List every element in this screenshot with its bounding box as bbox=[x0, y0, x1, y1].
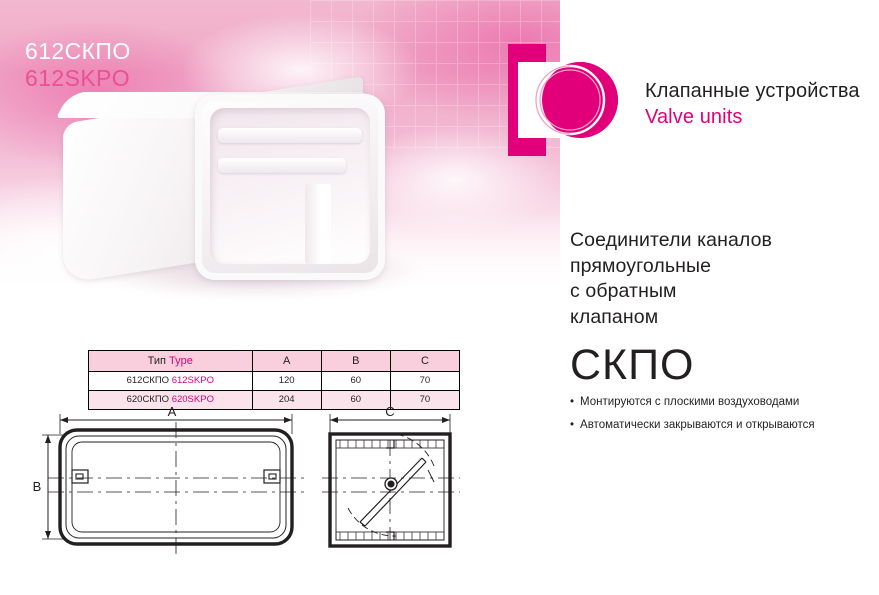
table-header-row: Тип Type A B C bbox=[89, 351, 460, 372]
header-type: Тип Type bbox=[89, 351, 253, 372]
table-row: 612СКПО 612SKPO 120 60 70 bbox=[89, 372, 460, 391]
cell-type-ru: 612СКПО bbox=[127, 375, 169, 386]
feature-item: • Монтируются с плоскими воздуховодами bbox=[570, 394, 875, 411]
header-type-en: Type bbox=[169, 355, 193, 367]
bullet-icon: • bbox=[570, 394, 574, 411]
category-badge-text: Клапанные устройства Valve units bbox=[645, 78, 860, 130]
spec-table-head: Тип Type A B C bbox=[89, 351, 460, 372]
side-view-dim-c: C bbox=[385, 404, 394, 419]
cell-c: 70 bbox=[390, 372, 459, 391]
description-line-1: Соединители каналов bbox=[570, 228, 870, 254]
valve-damper-icon bbox=[508, 44, 628, 156]
hero-title-ru: 612СКПО bbox=[25, 38, 131, 65]
description-line-4: клапаном bbox=[570, 305, 870, 331]
header-c: C bbox=[390, 351, 459, 372]
bullet-icon: • bbox=[570, 417, 574, 434]
product-rib bbox=[305, 184, 331, 264]
feature-list: • Монтируются с плоскими воздуховодами •… bbox=[570, 394, 875, 439]
cell-type: 612СКПО 612SKPO bbox=[89, 372, 253, 391]
header-a: A bbox=[252, 351, 321, 372]
description-line-3: с обратным bbox=[570, 279, 870, 305]
hero-title-en: 612SKPO bbox=[25, 65, 131, 92]
front-view-dim-a: A bbox=[168, 404, 177, 419]
cell-a: 120 bbox=[252, 372, 321, 391]
category-badge bbox=[508, 44, 628, 156]
front-view-dim-b: B bbox=[33, 479, 42, 494]
catalog-page: 612СКПО 612SKPO Клапанные устройства Val… bbox=[0, 0, 879, 595]
product-photo bbox=[55, 92, 475, 307]
product-vane-lower bbox=[218, 158, 346, 173]
side-view-drawing bbox=[322, 414, 460, 546]
description-line-2: прямоугольные bbox=[570, 254, 870, 280]
product-description: Соединители каналов прямоугольные с обра… bbox=[570, 228, 870, 387]
cell-type-en: 612SKPO bbox=[172, 375, 214, 386]
front-view-drawing bbox=[42, 414, 306, 554]
category-label-ru: Клапанные устройства bbox=[645, 78, 860, 104]
cell-b: 60 bbox=[321, 372, 390, 391]
category-label-en: Valve units bbox=[645, 104, 860, 130]
technical-drawings: A B bbox=[30, 404, 490, 584]
specification-table: Тип Type A B C 612СКПО 612SKPO 120 60 7 bbox=[88, 350, 460, 410]
spec-table: Тип Type A B C 612СКПО 612SKPO 120 60 7 bbox=[88, 350, 460, 410]
header-type-ru: Тип bbox=[148, 355, 166, 367]
header-b: B bbox=[321, 351, 390, 372]
hero-title: 612СКПО 612SKPO bbox=[25, 38, 131, 92]
product-code-heading: СКПО bbox=[570, 344, 870, 387]
product-vane-upper bbox=[218, 128, 362, 143]
feature-item: • Автоматически закрываются и открываютс… bbox=[570, 417, 875, 434]
feature-text: Монтируются с плоскими воздуховодами bbox=[580, 394, 799, 411]
feature-text: Автоматически закрываются и открываются bbox=[580, 417, 815, 434]
